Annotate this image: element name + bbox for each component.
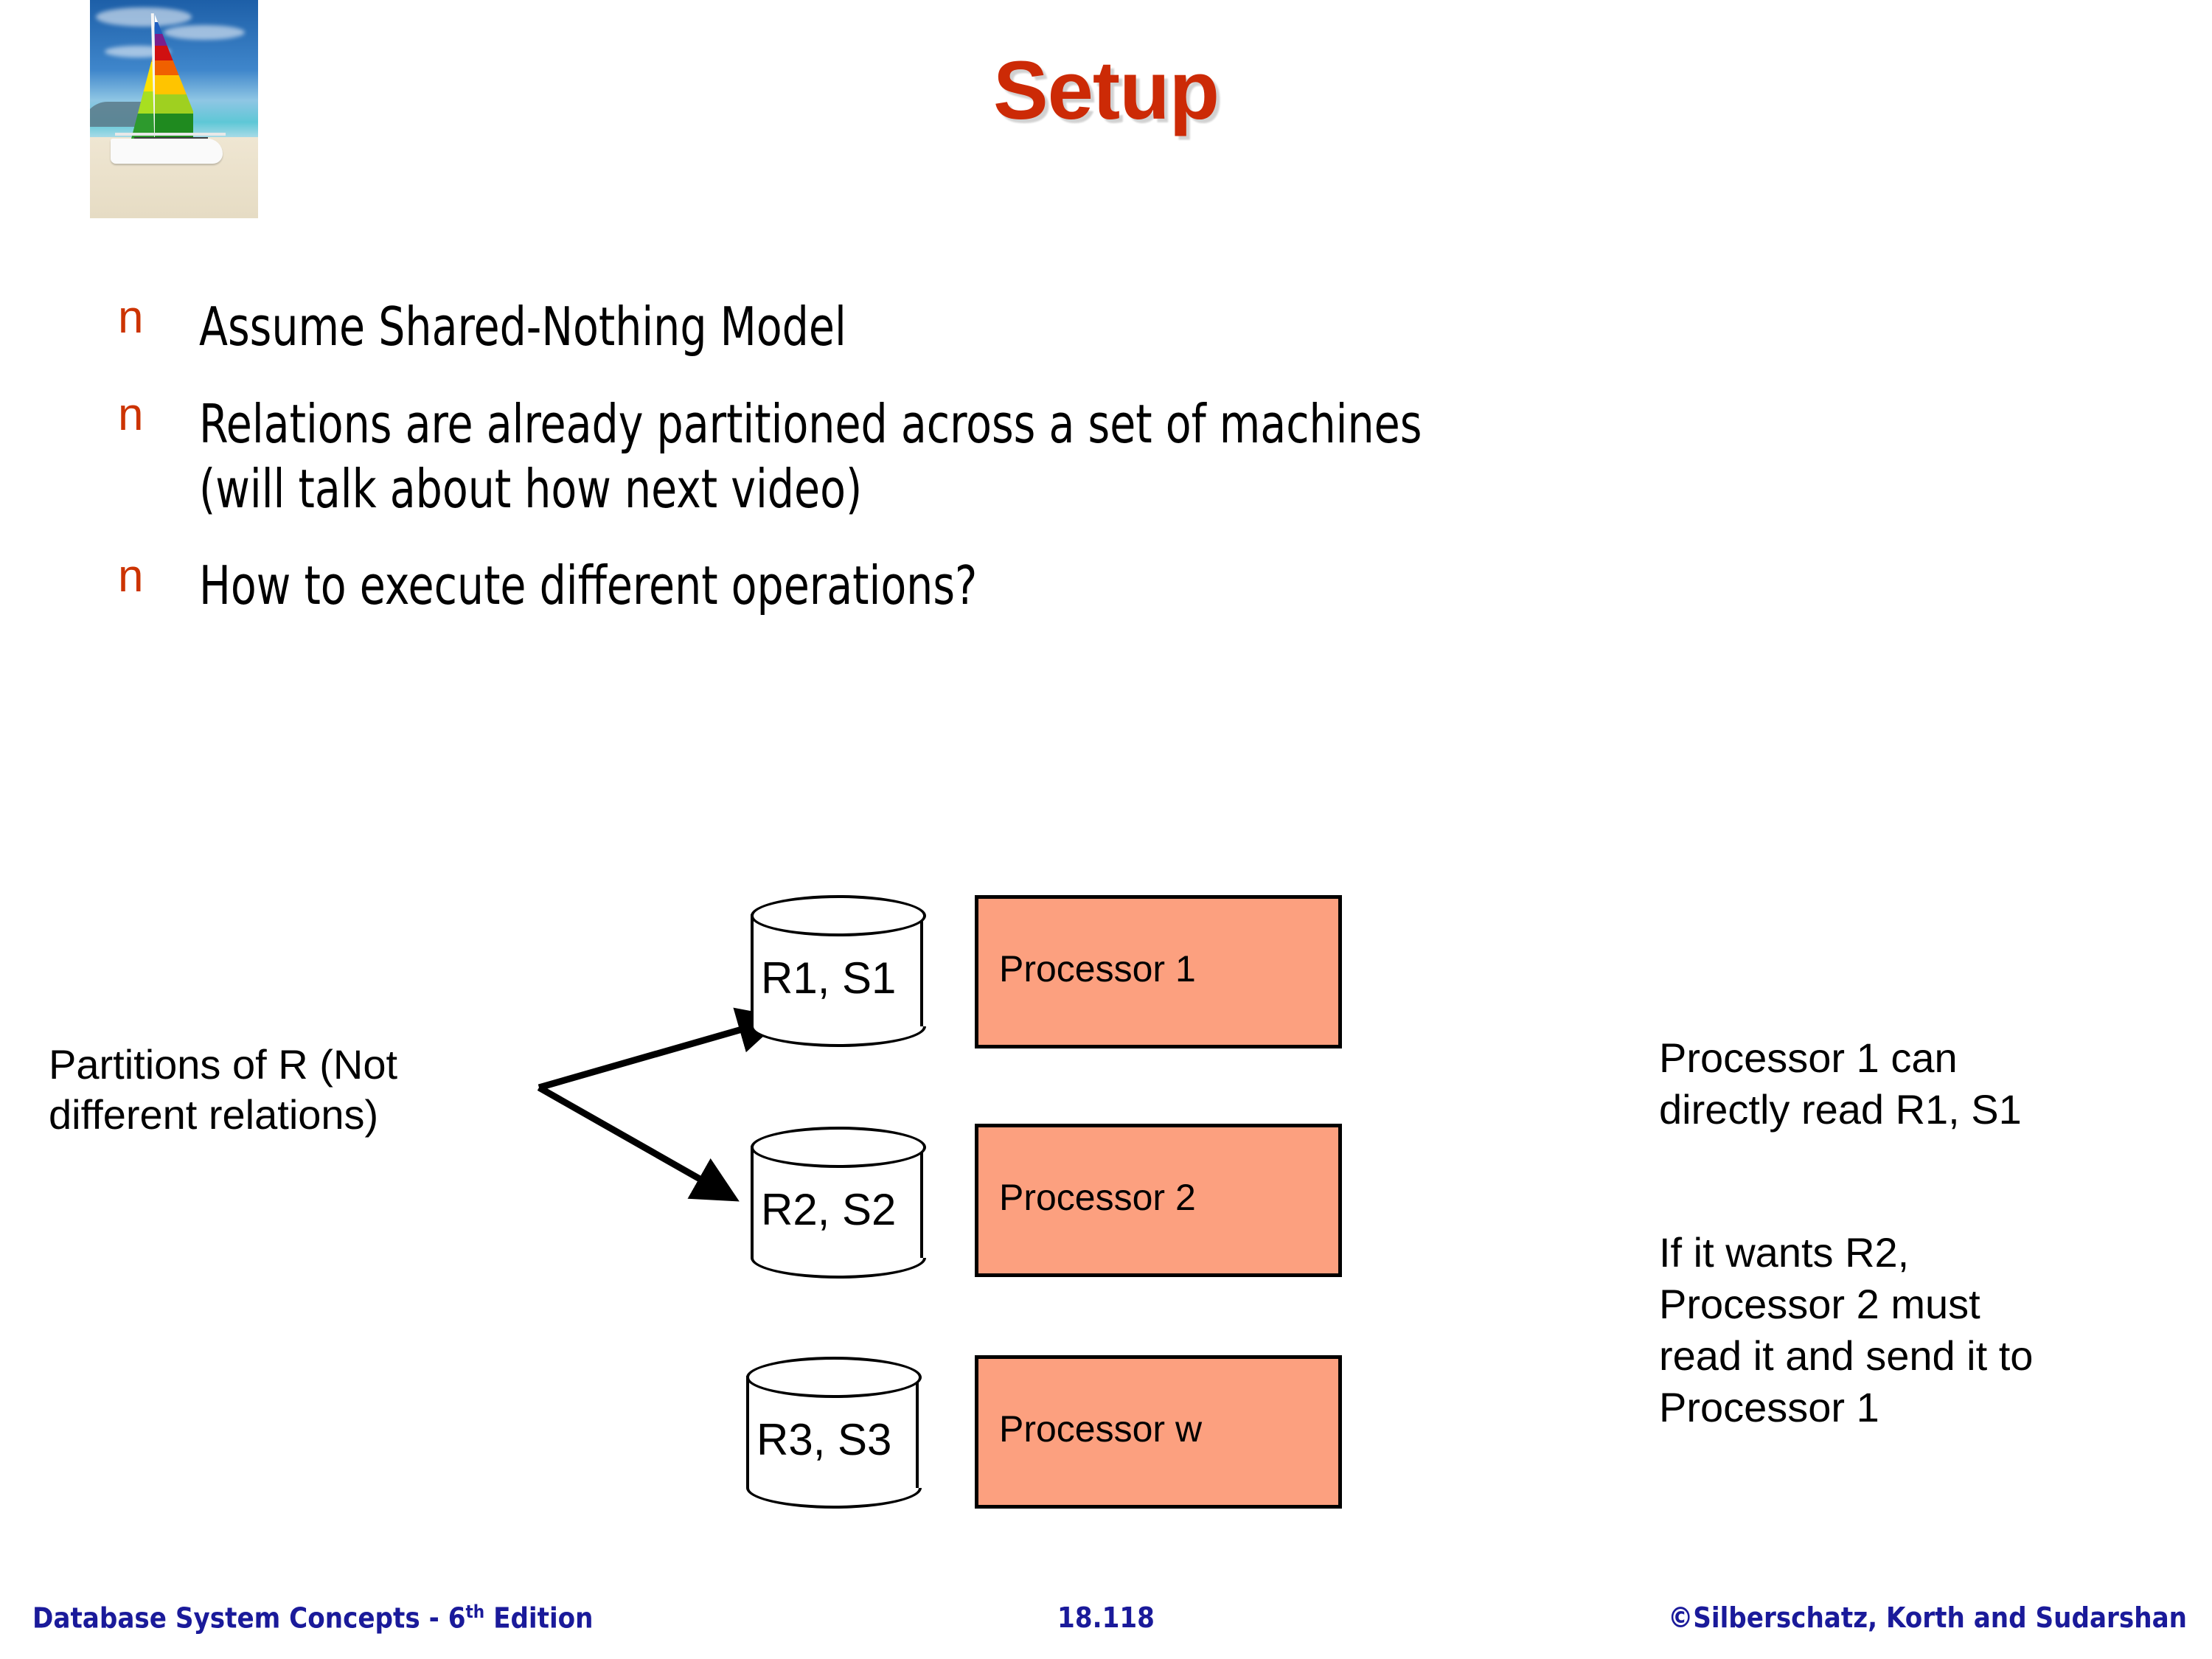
square-bullet-icon: n (118, 554, 199, 599)
cylinder-top (751, 1127, 926, 1168)
footer-copyright: ©Silberschatz, Korth and Sudarshan (1668, 1601, 2187, 1634)
right-explanation-para-1: Processor 1 can directly read R1, S1 (1659, 1032, 2205, 1135)
processor-label: Processor w (999, 1408, 1202, 1450)
cloud-shape (164, 25, 245, 40)
slide-footer: Database System Concepts - 6th Edition 1… (0, 1601, 2212, 1646)
bullet-text: Relations are already partitioned across… (199, 392, 1422, 522)
partition-note: Partitions of R (Not different relations… (49, 1040, 580, 1141)
bullet-item-1: n Assume Shared-Nothing Model (118, 295, 2035, 360)
square-bullet-icon: n (118, 392, 199, 438)
disk-cylinder-3: R3, S3 (746, 1357, 922, 1509)
disk-label: R2, S2 (761, 1184, 953, 1235)
bullet-text: How to execute different operations? (199, 554, 977, 619)
right-explanation: Processor 1 can directly read R1, S1 If … (1659, 981, 2205, 1485)
processor-label: Processor 1 (999, 947, 1196, 990)
processor-box-2: Processor 2 (975, 1124, 1342, 1277)
disk-cylinder-1: R1, S1 (751, 895, 926, 1047)
bullet-item-2: n Relations are already partitioned acro… (118, 392, 2035, 522)
right-explanation-para-2: If it wants R2, Processor 2 must read it… (1659, 1227, 2205, 1433)
cylinder-top (751, 895, 926, 936)
bullet-item-3: n How to execute different operations? (118, 554, 2035, 619)
bullet-list: n Assume Shared-Nothing Model n Relation… (118, 295, 2035, 651)
bullet-text: Assume Shared-Nothing Model (199, 295, 846, 360)
cylinder-top (746, 1357, 922, 1398)
processor-box-1: Processor 1 (975, 895, 1342, 1048)
disk-label: R1, S1 (761, 953, 953, 1004)
processor-label: Processor 2 (999, 1176, 1196, 1219)
disk-label: R3, S3 (757, 1414, 948, 1465)
square-bullet-icon: n (118, 295, 199, 341)
hull (111, 139, 223, 164)
cloud-shape (96, 7, 192, 27)
disk-cylinder-2: R2, S2 (751, 1127, 926, 1279)
processor-box-3: Processor w (975, 1355, 1342, 1509)
slide-title: Setup (0, 43, 2212, 138)
